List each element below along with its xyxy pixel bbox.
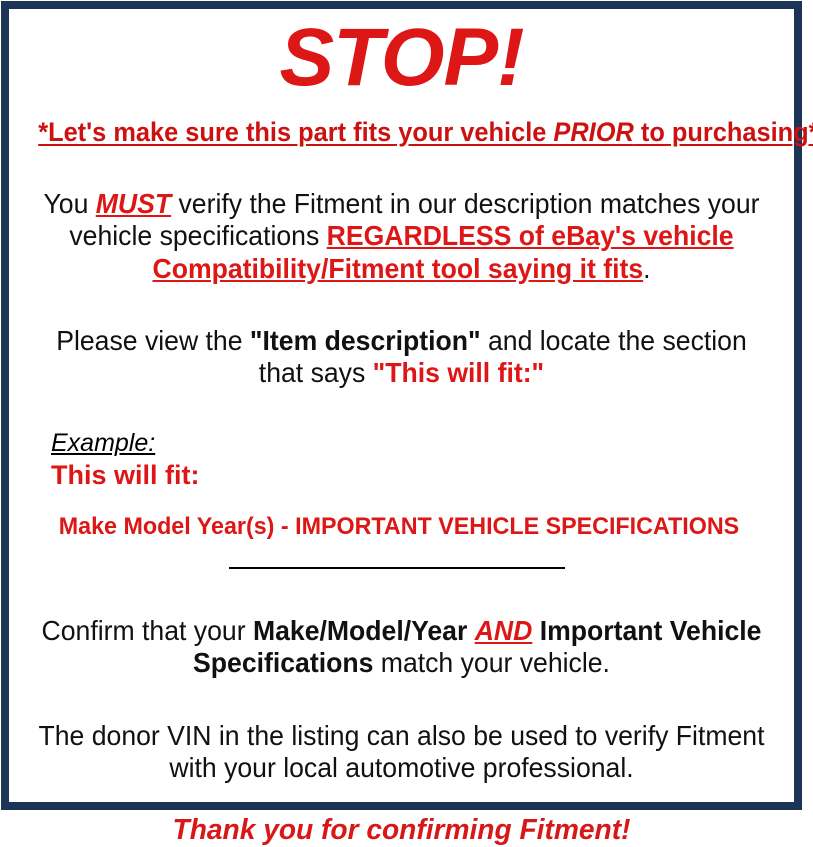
tagline-after: to purchasing* bbox=[634, 117, 813, 147]
tagline: *Let's make sure this part fits your veh… bbox=[38, 102, 765, 148]
divider-wrap bbox=[15, 541, 788, 587]
confirm-text-1: Confirm that your bbox=[42, 615, 253, 646]
stop-heading: STOP! bbox=[15, 9, 788, 102]
fitment-notice-body: STOP! *Let's make sure this part fits yo… bbox=[9, 9, 794, 802]
section-divider bbox=[229, 567, 565, 569]
confirm-text-3: match your vehicle. bbox=[373, 647, 610, 678]
confirm-paragraph: Confirm that your Make/Model/Year AND Im… bbox=[34, 587, 768, 679]
example-label: Example: bbox=[51, 429, 155, 458]
view-para-text-1: Please view the bbox=[56, 325, 250, 356]
and-emphasis: AND bbox=[475, 615, 533, 646]
this-will-fit-emphasis: "This will fit:" bbox=[373, 357, 545, 388]
thank-you-message: Thank you for confirming Fitment! bbox=[27, 784, 777, 847]
must-para-text-3: . bbox=[643, 253, 650, 284]
item-description-emphasis: "Item description" bbox=[250, 325, 481, 356]
donor-vin-paragraph: The donor VIN in the listing can also be… bbox=[34, 680, 768, 784]
fitment-notice-frame: STOP! *Let's make sure this part fits yo… bbox=[1, 1, 802, 810]
must-para-text-1: You bbox=[43, 188, 95, 219]
make-model-year-emphasis: Make/Model/Year bbox=[253, 615, 467, 646]
example-spec-line: Make Model Year(s) - IMPORTANT VEHICLE S… bbox=[51, 491, 766, 541]
example-fit-header: This will fit: bbox=[51, 458, 788, 491]
must-emphasis: MUST bbox=[96, 188, 171, 219]
view-description-paragraph: Please view the "Item description" and l… bbox=[34, 285, 768, 389]
tagline-before: *Let's make sure this part fits your veh… bbox=[38, 117, 553, 147]
example-block: Example: This will fit: Make Model Year(… bbox=[15, 389, 788, 541]
tagline-emphasis-prior: PRIOR bbox=[553, 117, 633, 147]
must-verify-paragraph: You MUST verify the Fitment in our descr… bbox=[34, 148, 768, 285]
